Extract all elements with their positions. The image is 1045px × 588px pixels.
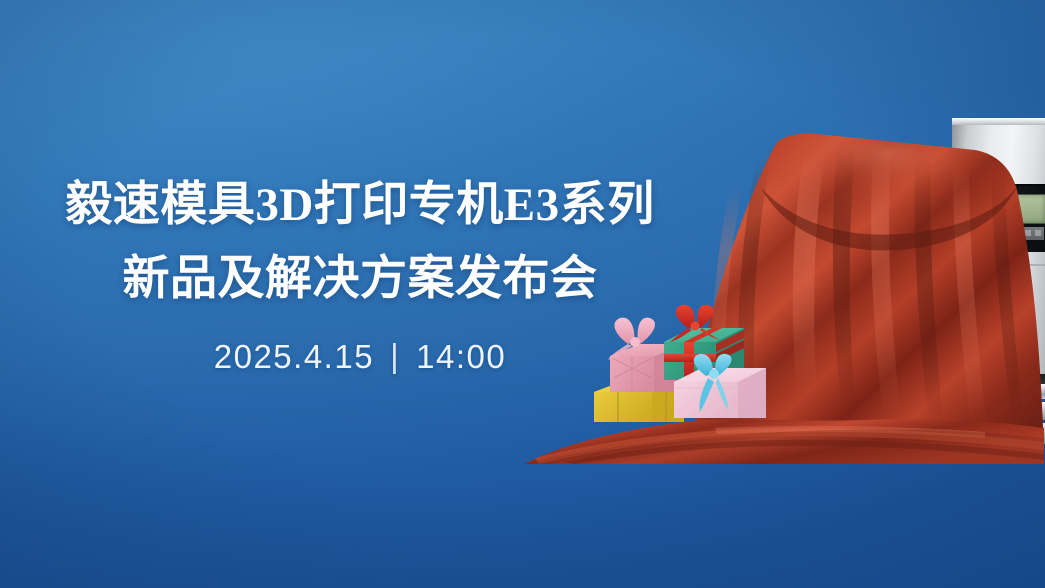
event-date: 2025.4.15 (214, 338, 374, 375)
event-poster: 毅速模具3D打印专机E3系列 新品及解决方案发布会 2025.4.15|14:0… (0, 0, 1045, 588)
event-datetime: 2025.4.15|14:00 (0, 338, 720, 376)
poster-text-block: 毅速模具3D打印专机E3系列 新品及解决方案发布会 2025.4.15|14:0… (0, 168, 720, 376)
machine-top-edge (952, 118, 1045, 125)
page-title-line-1: 毅速模具3D打印专机E3系列 (0, 168, 720, 242)
datetime-separator: | (390, 337, 400, 375)
page-title-line-2: 新品及解决方案发布会 (0, 242, 720, 316)
event-time: 14:00 (416, 338, 506, 375)
